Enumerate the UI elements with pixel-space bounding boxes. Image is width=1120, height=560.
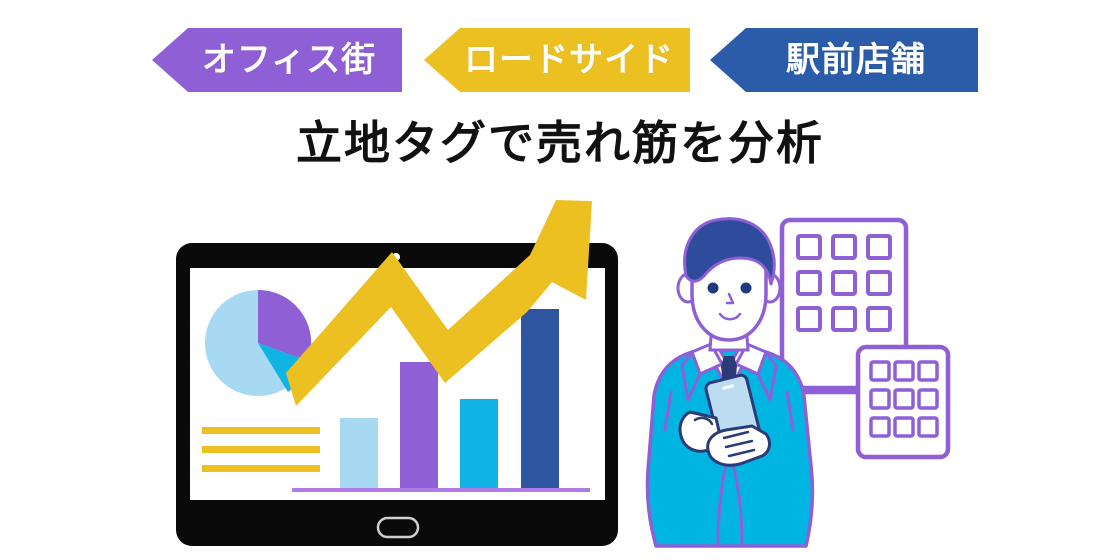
buildings-group	[760, 220, 948, 457]
person-hair	[685, 219, 775, 284]
trend-arrow-icon	[286, 200, 592, 406]
tablet-screen	[190, 268, 605, 500]
building-tall-body	[782, 220, 906, 392]
smartphone-body	[705, 374, 764, 456]
screen-text-lines	[202, 427, 320, 472]
building-tall	[782, 220, 906, 392]
building-short	[858, 347, 948, 457]
person-hand-left-thumb	[695, 418, 712, 424]
smartphone[interactable]	[705, 374, 764, 456]
tag-office-district-label: オフィス街	[202, 43, 376, 77]
smartphone-speaker	[722, 384, 734, 390]
tablet-home-button[interactable]	[378, 518, 418, 537]
tag-station-front-store-label: 駅前店舗	[786, 43, 926, 77]
bar-light-blue	[340, 418, 378, 490]
tag-roadside[interactable]: ロードサイド	[424, 28, 690, 92]
text-line-2	[202, 446, 320, 453]
bar-dark-blue	[521, 309, 559, 490]
location-tag-row: オフィス街 ロードサイド 駅前店舗	[0, 28, 1120, 92]
bar-chart	[292, 309, 590, 492]
tag-station-front-store[interactable]: 駅前店舗	[710, 28, 978, 92]
tablet-frame	[176, 243, 618, 546]
person-collar-right	[736, 344, 766, 374]
person-ear-left	[678, 274, 698, 302]
person-ear-right	[760, 274, 780, 302]
person-nose	[727, 294, 733, 303]
bar-chart-baseline	[292, 488, 590, 492]
person-fingers	[724, 432, 754, 456]
person-jacket-seam-right	[729, 450, 742, 546]
text-line-1	[202, 427, 320, 434]
building-short-body	[858, 347, 948, 457]
person-hand-right	[708, 426, 770, 465]
tablet-device	[176, 243, 618, 546]
person-face	[692, 226, 766, 340]
building-tall-windows	[798, 236, 890, 330]
tablet-screen-content	[202, 290, 590, 492]
pie-slice-purple	[258, 290, 311, 361]
person-sleeve-crease-right	[787, 392, 793, 430]
tag-roadside-label: ロードサイド	[464, 43, 674, 77]
bar-purple	[400, 362, 438, 490]
tablet-camera-dot	[392, 253, 400, 261]
person-suit-body	[647, 346, 812, 546]
person-lapel-left	[682, 352, 700, 400]
person-tie	[721, 356, 737, 404]
person-lapel-right	[758, 352, 776, 400]
poster-canvas: オフィス街 ロードサイド 駅前店舗 立地タグで売れ筋を分析	[0, 0, 1120, 560]
person-jacket-seam	[718, 450, 729, 546]
person-mouth	[720, 314, 740, 319]
bar-cyan	[460, 399, 498, 490]
person-hand-left	[680, 412, 722, 451]
tag-office-district[interactable]: オフィス街	[152, 28, 402, 92]
text-line-3	[202, 465, 320, 472]
person-neck	[710, 324, 748, 350]
pie-slice-light-blue	[205, 290, 311, 396]
person-sleeve-crease-left	[665, 392, 671, 430]
person-collar-left	[692, 344, 722, 374]
person-shirt	[706, 342, 752, 392]
person-eye-right	[741, 283, 752, 294]
page-title: 立地タグで売れ筋を分析	[0, 118, 1120, 169]
pie-chart	[205, 290, 311, 396]
pie-slice-cyan	[258, 343, 308, 392]
building-short-windows	[871, 362, 937, 436]
businessman-figure	[647, 219, 812, 546]
person-eye-left	[708, 283, 719, 294]
